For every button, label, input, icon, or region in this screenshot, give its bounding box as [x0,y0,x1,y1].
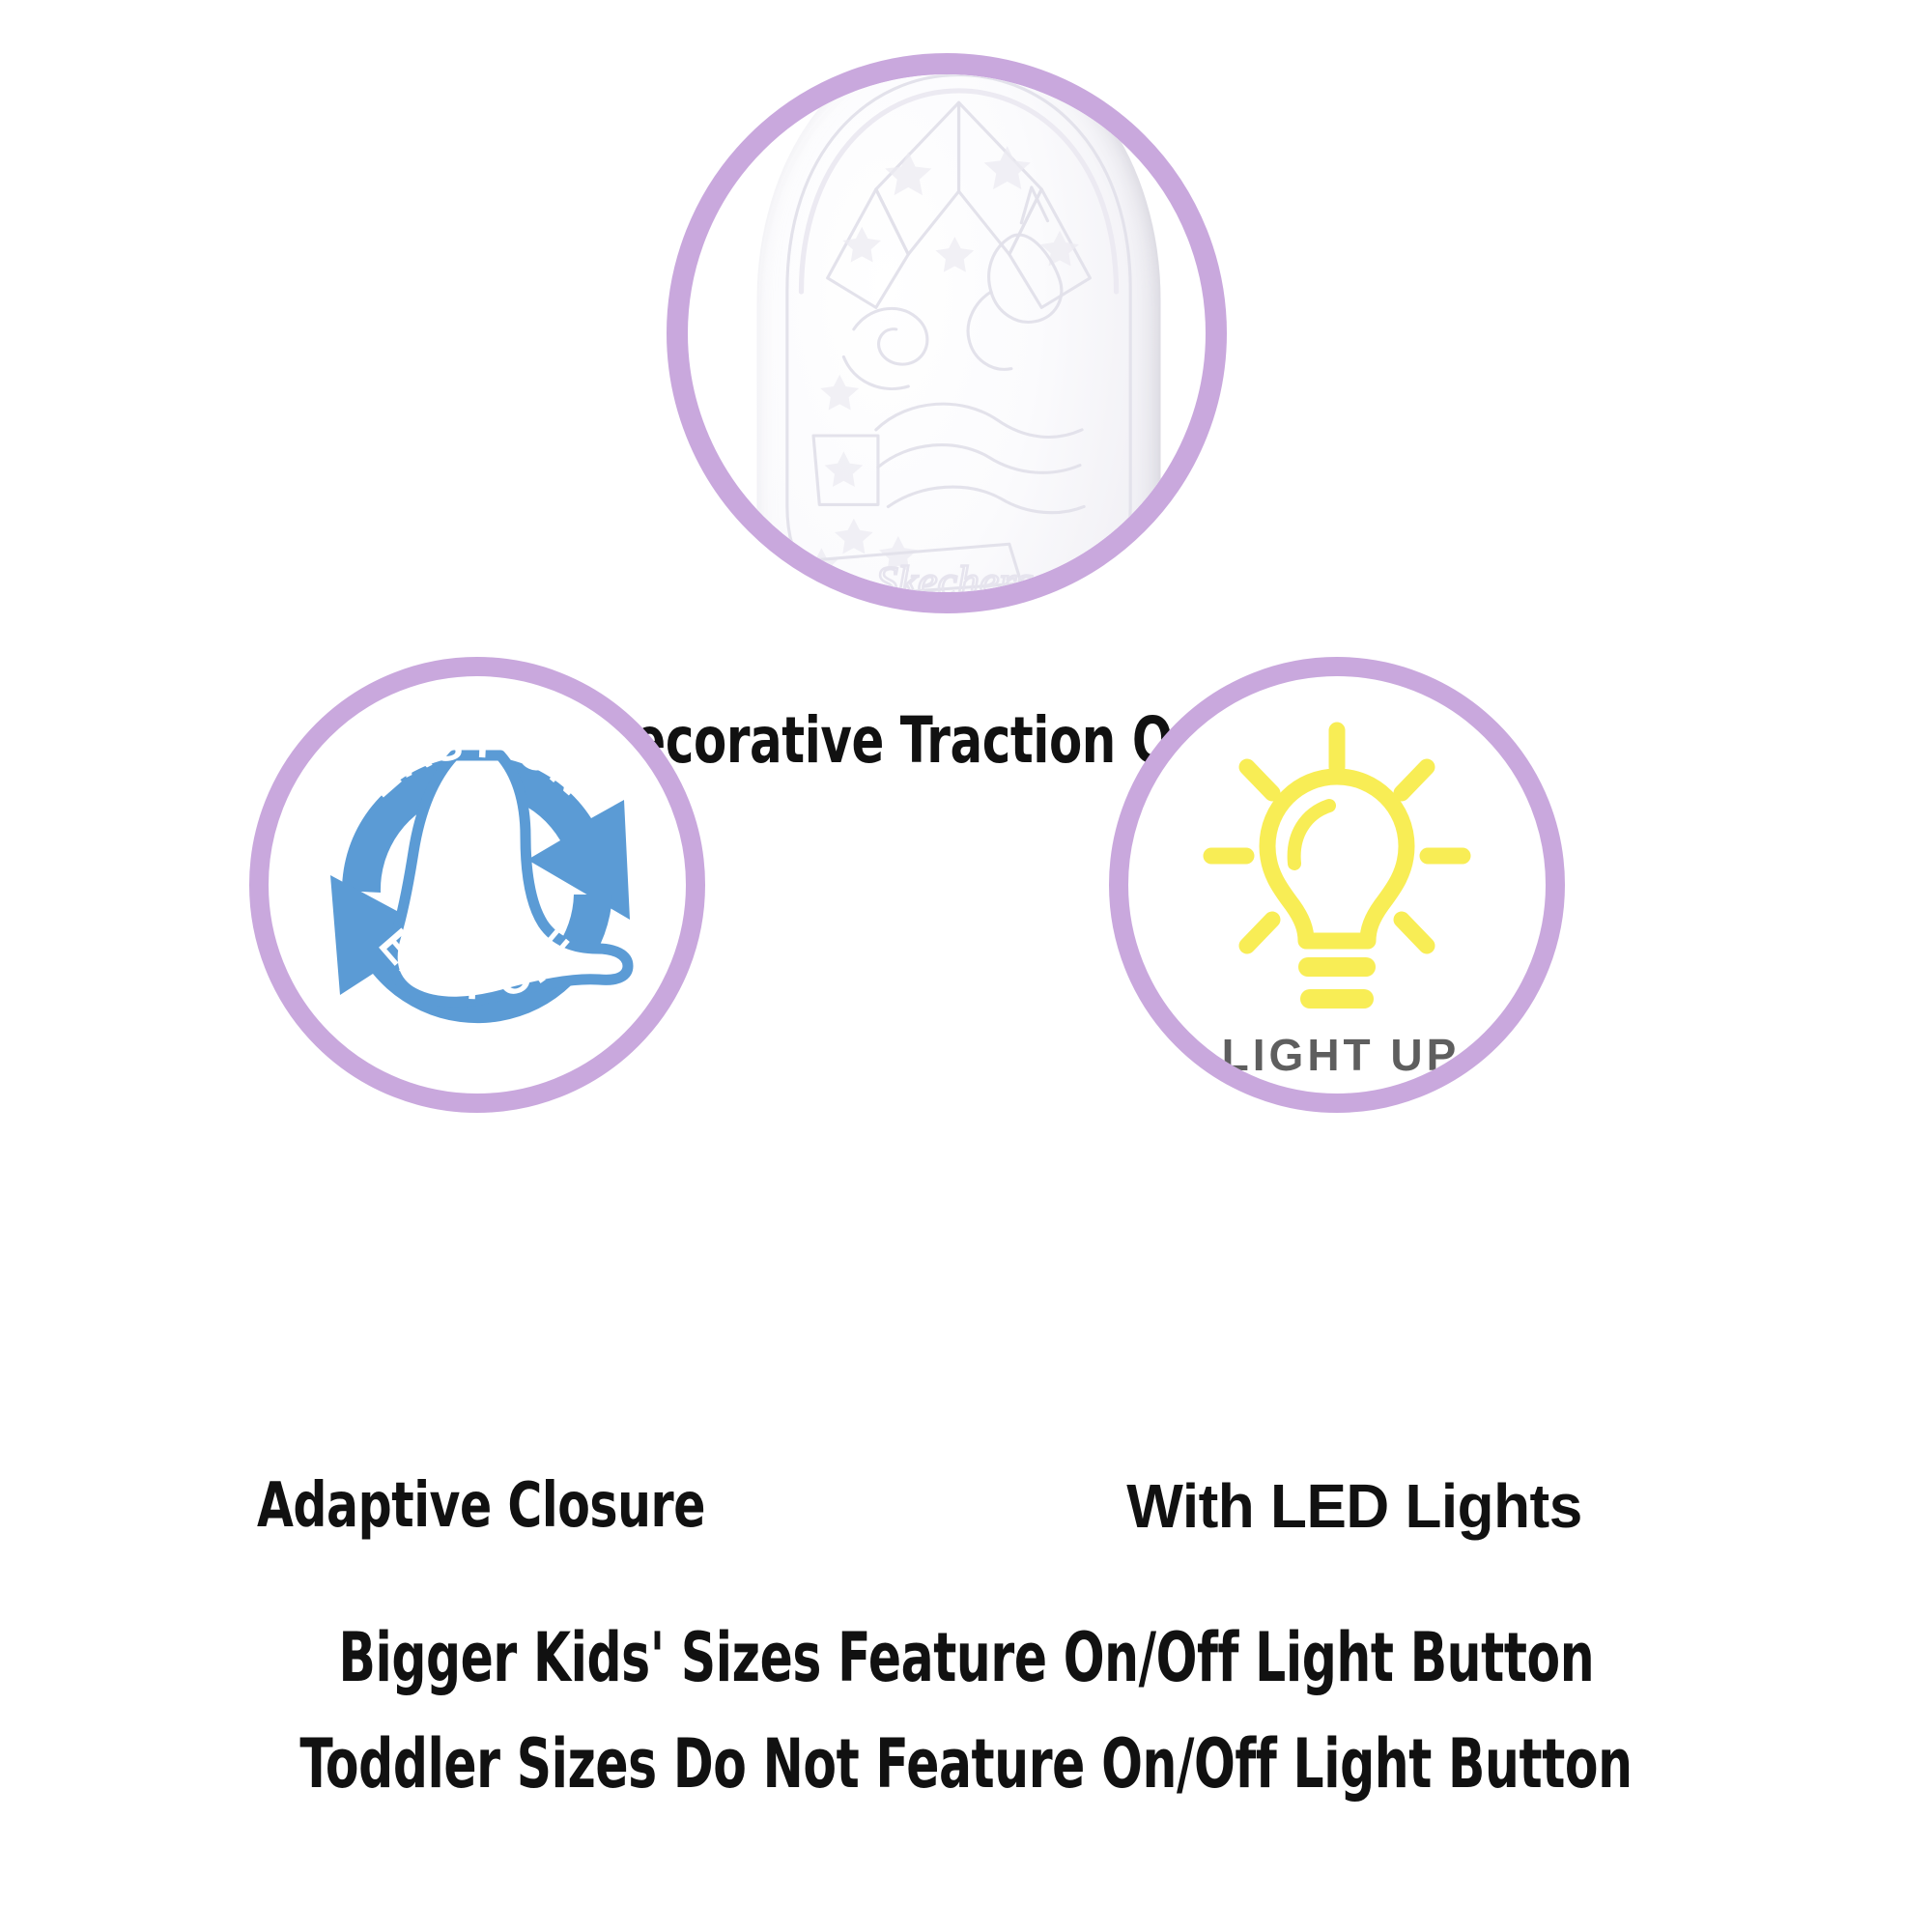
decorative-traction-outsole-circle: .eb { fill:none; stroke:#e2e0ea; stroke-… [667,53,1227,613]
skechers-emboss-text: Skechers [876,557,1034,592]
bulb-rays [1211,730,1463,946]
footnote-bigger-kids-text: Bigger Kids' Sizes Feature On/Off Light … [338,1619,1594,1696]
footnote-toddler: Toddler Sizes Do Not Feature On/Off Ligh… [0,1725,1932,1803]
led-lights-title: With LED Lights [932,1468,1777,1544]
footnote-toddler-text: Toddler Sizes Do Not Feature On/Off Ligh… [299,1725,1632,1803]
adaptive-closure-circle: EASY ON EASY OFF [249,657,705,1113]
bulb-base [1308,967,1366,999]
outsole-image-clip: .eb { fill:none; stroke:#e2e0ea; stroke-… [688,74,1206,592]
bulb-highlight [1294,806,1329,864]
led-lights-circle: LIGHT UP [1109,657,1565,1113]
easy-on-easy-off-icon: EASY ON EASY OFF [284,692,670,1078]
footnote-bigger-kids: Bigger Kids' Sizes Feature On/Off Light … [0,1619,1932,1696]
adaptive-closure-title: Adaptive Closure [58,1468,903,1544]
led-lights-title-text: With LED Lights [1127,1468,1582,1544]
adaptive-closure-title-text: Adaptive Closure [256,1468,704,1544]
light-up-text: LIGHT UP [1222,1030,1461,1078]
outsole-emboss-pattern: .eb { fill:none; stroke:#e2e0ea; stroke-… [757,74,1161,592]
shoe-outsole-photo: .eb { fill:none; stroke:#e2e0ea; stroke-… [757,74,1161,592]
light-up-bulb-icon: LIGHT UP [1144,692,1530,1078]
